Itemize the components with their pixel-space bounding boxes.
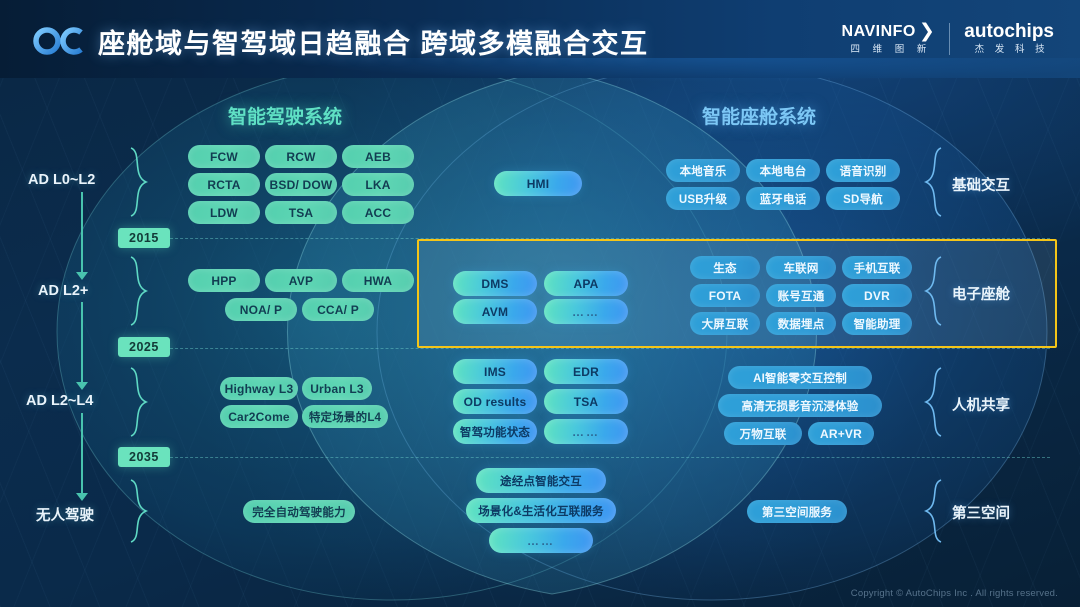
tag-od-results[interactable]: OD results [453,389,537,414]
year-badge-2035: 2035 [118,447,170,467]
tag-bluetooth-call[interactable]: 蓝牙电话 [746,187,820,210]
right-label-human-machine: 人机共享 [952,394,1010,415]
tag-voice-recognition[interactable]: 语音识别 [826,159,900,182]
tag-large-screen-link[interactable]: 大屏互联 [690,312,760,335]
tag-hpp[interactable]: HPP [188,269,260,292]
tag-ldw[interactable]: LDW [188,201,260,224]
right-label-electronic-cockpit: 电子座舱 [952,283,1010,304]
tag-scenario-life-service[interactable]: 场景化&生活化互联服务 [466,498,616,523]
tag-usb-upgrade[interactable]: USB升级 [666,187,740,210]
brace-left-1 [128,146,150,218]
tag-third-space-more[interactable]: …… [489,528,593,553]
tag-third-space-service[interactable]: 第三空间服务 [747,500,847,523]
tag-full-autonomous-capability[interactable]: 完全自动驾驶能力 [243,500,355,523]
tag-hmi[interactable]: HMI [494,171,582,196]
tag-edr[interactable]: EDR [544,359,628,384]
tag-noa-p[interactable]: NOA/ P [225,298,297,321]
brace-right-3 [922,366,944,438]
tag-ad-function-status[interactable]: 智驾功能状态 [453,419,537,444]
brace-right-4 [922,478,944,544]
brand-navinfo-sub: 四 维 图 新 [845,44,931,55]
tag-car2come[interactable]: Car2Come [220,405,298,428]
left-section-title: 智能驾驶系统 [228,102,342,129]
brace-left-3 [128,366,150,438]
timeline-connector-2 [81,302,83,384]
brand-navinfo-name: NAVINFO [842,22,916,41]
stage-label-ad-l0-l2: AD L0~L2 [28,172,95,188]
timeline-arrow-3 [76,493,88,501]
tag-fota[interactable]: FOTA [690,284,760,307]
brace-right-1 [922,146,944,218]
tag-hwa[interactable]: HWA [342,269,414,292]
right-label-basic-interaction: 基础交互 [952,174,1010,195]
tag-tsa-left[interactable]: TSA [265,201,337,224]
tag-sharing-more[interactable]: …… [544,419,628,444]
tag-account-sync[interactable]: 账号互通 [766,284,836,307]
brand-lockup: NAVINFO ❯ 四 维 图 新 autochips 杰 发 科 技 [842,22,1054,55]
tag-iot-everything[interactable]: 万物互联 [724,422,802,445]
tag-iov[interactable]: 车联网 [766,256,836,279]
year-badge-2015: 2015 [118,228,170,248]
copyright-text: Copyright © AutoChips Inc . All rights r… [851,588,1058,599]
brace-right-2 [922,255,944,327]
tag-specific-scene-l4[interactable]: 特定场景的L4 [302,405,388,428]
tag-smart-assistant[interactable]: 智能助理 [842,312,912,335]
band-divider-2025 [150,348,1050,349]
tag-ims[interactable]: IMS [453,359,537,384]
year-badge-2025: 2025 [118,337,170,357]
tag-rcta[interactable]: RCTA [188,173,260,196]
tag-dms[interactable]: DMS [453,271,537,296]
chevron-right-icon: ❯ [919,24,935,40]
right-section-title: 智能座舱系统 [702,102,816,129]
tag-ar-vr[interactable]: AR+VR [808,422,874,445]
page-title: 座舱域与智驾域日趋融合 跨域多模融合交互 [98,22,649,61]
tag-bsd-dow[interactable]: BSD/ DOW [265,173,337,196]
tag-avp[interactable]: AVP [265,269,337,292]
tag-cockpit-more[interactable]: …… [544,299,628,324]
tag-apa[interactable]: APA [544,271,628,296]
stage-label-ad-l2-l4: AD L2~L4 [26,393,93,409]
tag-tsa-center[interactable]: TSA [544,389,628,414]
brand-divider [949,23,950,55]
tag-local-music[interactable]: 本地音乐 [666,159,740,182]
tag-highway-l3[interactable]: Highway L3 [220,377,298,400]
tag-hd-lossless-av[interactable]: 高清无损影音沉浸体验 [718,394,882,417]
brand-autochips-sub: 杰 发 科 技 [970,44,1049,55]
slide-header: 座舱域与智驾域日趋融合 跨域多模融合交互 NAVINFO ❯ 四 维 图 新 a… [0,0,1080,78]
timeline-connector-1 [81,192,83,274]
tag-lka[interactable]: LKA [342,173,414,196]
tag-acc[interactable]: ACC [342,201,414,224]
tag-ecology[interactable]: 生态 [690,256,760,279]
oc-logo-icon [30,27,92,55]
tag-dvr[interactable]: DVR [842,284,912,307]
band-divider-2035 [150,457,1050,458]
tag-waypoint-interaction[interactable]: 途经点智能交互 [476,468,606,493]
tag-fcw[interactable]: FCW [188,145,260,168]
tag-sd-navigation[interactable]: SD导航 [826,187,900,210]
stage-label-ad-l2plus: AD L2+ [38,283,88,299]
timeline-arrow-1 [76,272,88,280]
brace-left-4 [128,478,150,544]
tag-data-tracking[interactable]: 数据埋点 [766,312,836,335]
tag-local-radio[interactable]: 本地电台 [746,159,820,182]
tag-urban-l3[interactable]: Urban L3 [302,377,372,400]
stage-label-autonomous: 无人驾驶 [36,504,94,525]
tag-phone-link[interactable]: 手机互联 [842,256,912,279]
tag-cca-p[interactable]: CCA/ P [302,298,374,321]
brand-navinfo: NAVINFO ❯ 四 维 图 新 [842,22,936,55]
tag-avm[interactable]: AVM [453,299,537,324]
tag-aeb[interactable]: AEB [342,145,414,168]
brand-autochips: autochips 杰 发 科 技 [964,22,1054,55]
right-label-third-space: 第三空间 [952,502,1010,523]
timeline-arrow-2 [76,382,88,390]
slide-canvas: 座舱域与智驾域日趋融合 跨域多模融合交互 NAVINFO ❯ 四 维 图 新 a… [0,0,1080,607]
tag-rcw[interactable]: RCW [265,145,337,168]
brand-autochips-name: autochips [964,22,1054,41]
tag-ai-zero-interaction[interactable]: AI智能零交互控制 [728,366,872,389]
timeline-connector-3 [81,413,83,495]
brace-left-2 [128,255,150,327]
